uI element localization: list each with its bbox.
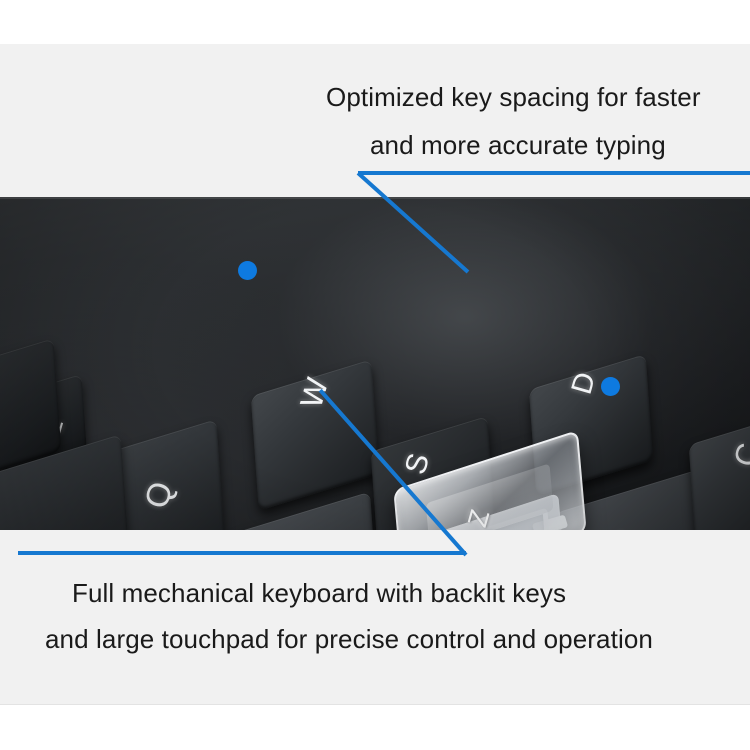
bottom-callout-dot [601,377,620,396]
bottom-callout-horizontal-line [18,551,466,555]
top-white-band [0,0,750,44]
top-caption-line-1: Optimized key spacing for faster [326,82,701,113]
top-caption-line-2: and more accurate typing [370,130,666,161]
product-feature-graphic: 1QWACapsSDXC Z Optimized key spacing for… [0,0,750,750]
bottom-white-band [0,705,750,750]
keyboard-photo: 1QWACapsSDXC Z [0,197,750,530]
photo-top-highlight [0,197,750,199]
scissor-switch-assembly: Z [385,455,625,530]
top-callout-horizontal-line [358,171,750,175]
bottom-caption-line-2: and large touchpad for precise control a… [45,624,653,655]
lower-gray-band [0,530,750,705]
top-callout-dot [238,261,257,280]
bottom-caption-line-1: Full mechanical keyboard with backlit ke… [72,578,566,609]
